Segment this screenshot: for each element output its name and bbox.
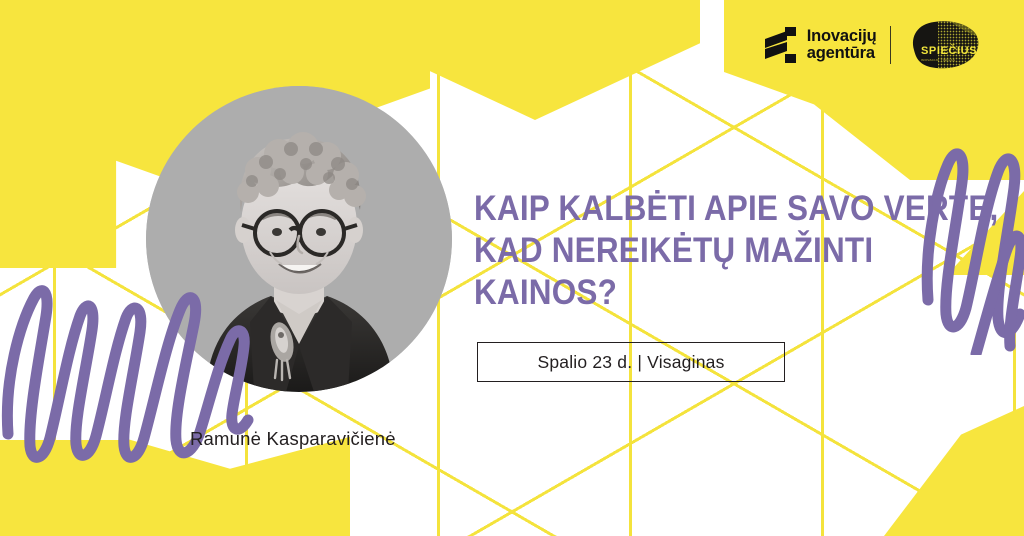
headline-line-3: KAINOS?	[474, 272, 897, 314]
spiecius-wordmark: SPIEČIUS	[921, 44, 977, 57]
spiecius-subtext: INOVACIJŲ TINKLAS	[921, 58, 955, 62]
spiecius-logo-icon[interactable]: SPIEČIUS INOVACIJŲ TINKLAS	[904, 18, 982, 72]
portrait-photo-icon	[146, 86, 452, 392]
innovation-agency-wordmark: Inovacijų agentūra	[807, 28, 877, 62]
innovation-agency-line1: Inovacijų	[807, 28, 877, 45]
event-date-location-text: Spalio 23 d. | Visaginas	[537, 352, 724, 373]
innovation-agency-line2: agentūra	[807, 45, 877, 62]
innovation-agency-logo[interactable]: Inovacijų agentūra	[765, 27, 877, 63]
event-date-location-box: Spalio 23 d. | Visaginas	[477, 342, 785, 382]
logo-divider	[890, 26, 892, 64]
speaker-name: Ramunė Kasparavičienė	[190, 428, 396, 450]
page-title: KAIP KALBĖTI APIE SAVO VERTĘ, KAD NEREIK…	[474, 188, 897, 314]
logo-bar: Inovacijų agentūra SPIEČIUS INOVACIJŲ TI…	[765, 18, 982, 72]
headline-line-2: KAD NEREIKĖTŲ MAŽINTI	[474, 230, 897, 272]
speaker-portrait	[146, 86, 452, 392]
innovation-agency-mark-icon	[765, 27, 799, 63]
event-promo-banner: Inovacijų agentūra SPIEČIUS INOVACIJŲ TI…	[0, 0, 1024, 536]
headline-line-1: KAIP KALBĖTI APIE SAVO VERTĘ,	[474, 188, 897, 230]
